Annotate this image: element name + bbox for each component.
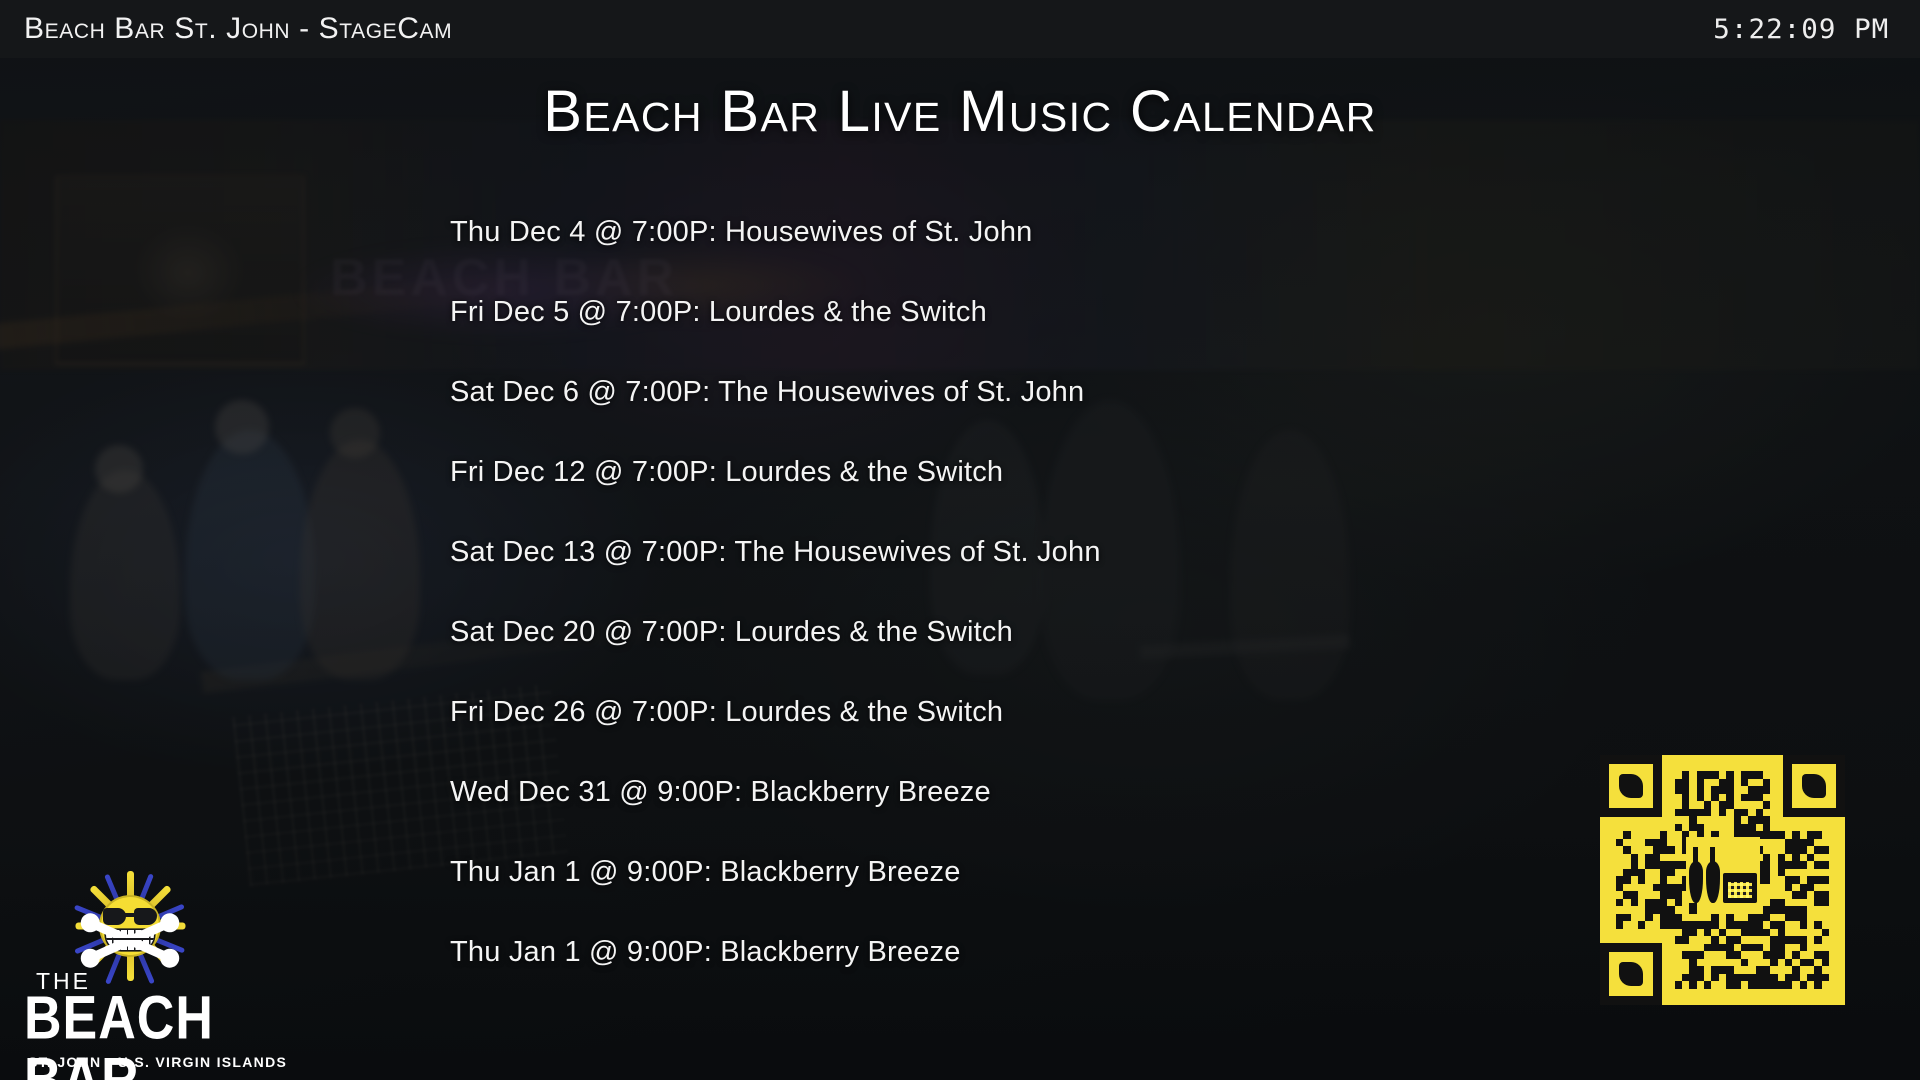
event-text: Thu Dec 4 @ 7:00P: Housewives of St. Joh… <box>450 216 1032 249</box>
clock-timestamp: 5:22:09 PM <box>1714 14 1890 45</box>
event-text: Wed Dec 31 @ 9:00P: Blackberry Breeze <box>450 776 991 809</box>
beach-bar-logo: THE BEACH BAR ST. JOHN · U.S. VIRGIN ISL… <box>18 870 238 1070</box>
logo-tagline: ST. JOHN · U.S. VIRGIN ISLANDS <box>28 1054 287 1070</box>
event-row: Sat Dec 20 @ 7:00P: Lourdes & the Switch <box>450 592 1101 672</box>
event-row: Thu Dec 4 @ 7:00P: Housewives of St. Joh… <box>450 192 1101 272</box>
event-text: Sat Dec 13 @ 7:00P: The Housewives of St… <box>450 536 1101 569</box>
live-music-event-list: Thu Dec 4 @ 7:00P: Housewives of St. Joh… <box>450 192 1101 992</box>
camera-title: Beach Bar St. John - StageCam <box>24 12 452 46</box>
event-row: Wed Dec 31 @ 9:00P: Blackberry Breeze <box>450 752 1101 832</box>
event-row: Thu Jan 1 @ 9:00P: Blackberry Breeze <box>450 912 1101 992</box>
qr-finder-top-right <box>1783 755 1845 817</box>
event-row: Sat Dec 13 @ 7:00P: The Housewives of St… <box>450 512 1101 592</box>
camera-header-bar: Beach Bar St. John - StageCam 5:22:09 PM <box>0 0 1920 58</box>
event-row: Thu Jan 1 @ 9:00P: Blackberry Breeze <box>450 832 1101 912</box>
guitar-icon <box>1689 861 1703 903</box>
qr-finder-top-left <box>1600 755 1662 817</box>
qr-finder-bottom-left <box>1600 943 1662 1005</box>
qr-center-logo <box>1686 837 1760 903</box>
calendar-icon <box>1723 873 1757 903</box>
event-text: Sat Dec 6 @ 7:00P: The Housewives of St.… <box>450 376 1084 409</box>
event-row: Fri Dec 5 @ 7:00P: Lourdes & the Switch <box>450 272 1101 352</box>
event-text: Fri Dec 5 @ 7:00P: Lourdes & the Switch <box>450 296 987 329</box>
event-text: Thu Jan 1 @ 9:00P: Blackberry Breeze <box>450 936 961 969</box>
event-row: Sat Dec 6 @ 7:00P: The Housewives of St.… <box>450 352 1101 432</box>
sun-skull-icon <box>70 870 190 982</box>
event-text: Thu Jan 1 @ 9:00P: Blackberry Breeze <box>450 856 961 889</box>
event-text: Fri Dec 26 @ 7:00P: Lourdes & the Switch <box>450 696 1003 729</box>
event-text: Sat Dec 20 @ 7:00P: Lourdes & the Switch <box>450 616 1013 649</box>
event-row: Fri Dec 26 @ 7:00P: Lourdes & the Switch <box>450 672 1101 752</box>
guitar-icon <box>1706 861 1720 903</box>
sunglasses-icon <box>103 908 157 925</box>
calendar-title: Beach Bar Live Music Calendar <box>0 78 1920 145</box>
qr-code[interactable] <box>1600 755 1845 1005</box>
stagecam-view: BEACH BAR Beach Bar St. John - StageCam … <box>0 0 1920 1080</box>
event-text: Fri Dec 12 @ 7:00P: Lourdes & the Switch <box>450 456 1003 489</box>
event-row: Fri Dec 12 @ 7:00P: Lourdes & the Switch <box>450 432 1101 512</box>
